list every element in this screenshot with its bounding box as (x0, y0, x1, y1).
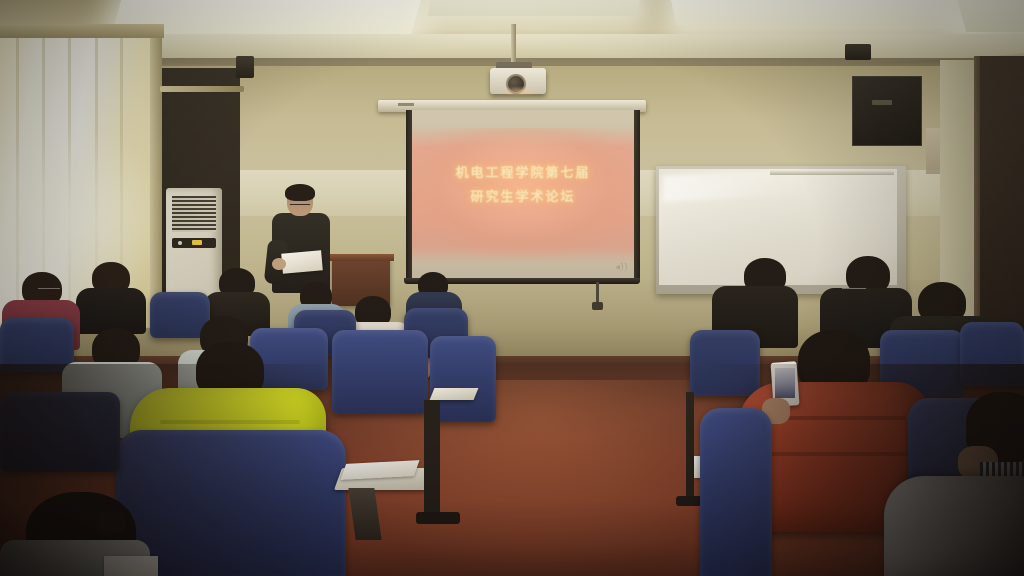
slide-title-line-1: 机电工程学院第七届 (412, 162, 634, 181)
speaker-badge (872, 100, 892, 105)
whiteboard-marker-tray (770, 170, 894, 175)
window-header (0, 24, 164, 38)
presenter-hand (272, 258, 286, 270)
screen-top-fade (412, 110, 634, 132)
audience-body (76, 288, 146, 334)
floor-shadow-left (0, 364, 340, 576)
projector-mount-pole (511, 24, 516, 66)
podium-top (328, 254, 394, 261)
presenter-paper (281, 250, 323, 273)
floor-shadow-right (700, 364, 1024, 576)
air-conditioner-led-icon (178, 241, 182, 245)
screen-housing-cap (398, 103, 414, 106)
screen-border-right (633, 110, 640, 282)
screen-pull-handle[interactable] (592, 302, 603, 310)
eyeglasses-icon (842, 288, 866, 293)
ceiling-light-panel (428, 0, 642, 16)
ceiling-light-panel (668, 0, 977, 26)
wall-speaker-left-icon (236, 56, 254, 78)
air-conditioner-grill (172, 196, 216, 232)
lecture-hall-photo: 机电工程学院第七届 研究生学术论坛 ◂)) (0, 0, 1024, 576)
slide-title-line-2: 研究生学术论坛 (412, 186, 634, 205)
doorway[interactable] (980, 56, 1024, 356)
tablet-arm-desk[interactable] (430, 388, 479, 400)
eyeglasses-icon (290, 204, 310, 209)
screen-bottom-fade (412, 254, 634, 280)
eyeglasses-icon (38, 288, 60, 292)
air-conditioner-led-icon (192, 240, 202, 245)
window-frame (150, 24, 162, 324)
seat-leg (686, 392, 694, 502)
auditorium-seat[interactable] (332, 330, 428, 414)
wall-speaker-small-icon (845, 44, 871, 60)
wall-speaker-right-icon (852, 76, 922, 146)
seat-foot (416, 512, 460, 524)
curtain-rail (160, 86, 244, 92)
ceiling-light-panel (954, 0, 1024, 32)
seat-leg (424, 400, 440, 520)
projector-beam-glow (498, 86, 540, 96)
screen-pull-cord[interactable] (596, 282, 599, 304)
projection-screen[interactable]: 机电工程学院第七届 研究生学术论坛 ◂)) (412, 110, 634, 280)
presenter-hair (285, 184, 315, 201)
